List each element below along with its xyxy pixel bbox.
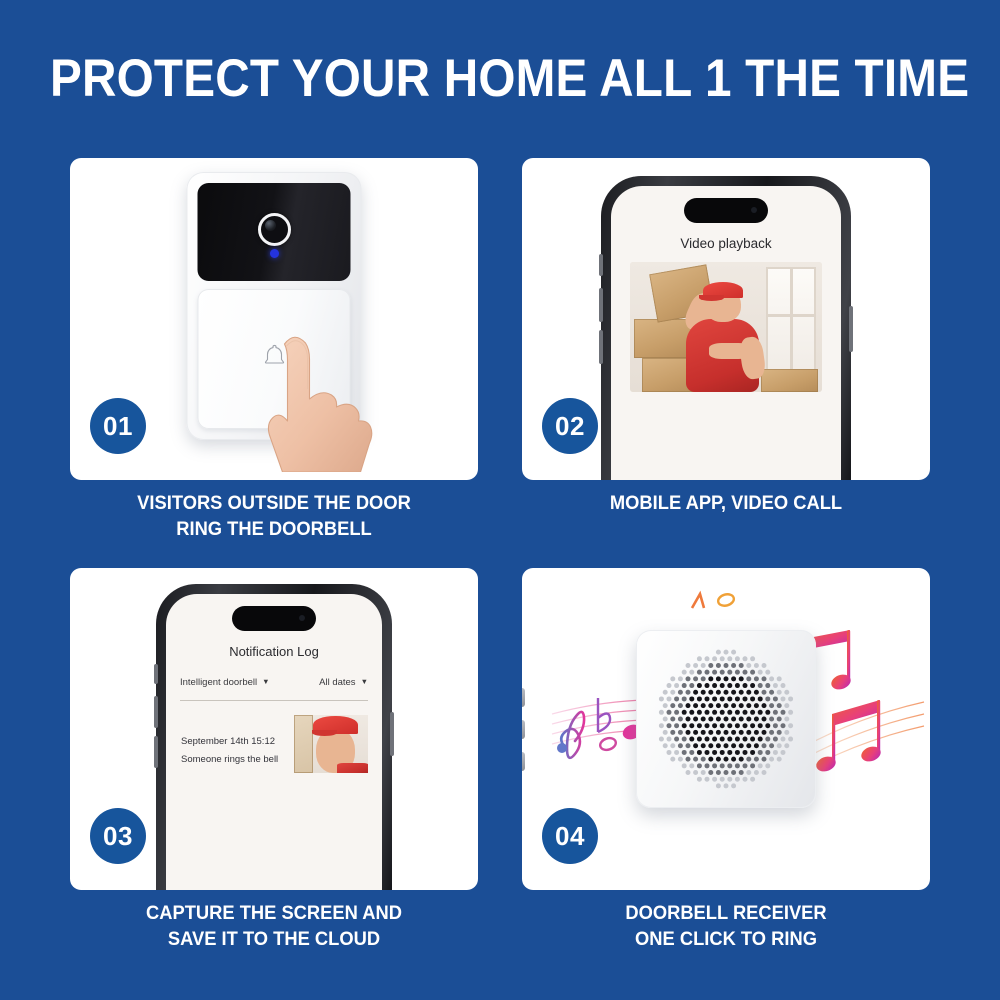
date-filter-label: All dates (319, 677, 355, 688)
notification-message: Someone rings the bell (181, 754, 278, 765)
video-playback-label: Video playback (611, 236, 841, 251)
phone-mute-switch[interactable] (154, 664, 158, 684)
phone-screen-02: Video playback (611, 186, 841, 480)
panel-caption-03: CAPTURE THE SCREEN AND SAVE IT TO THE CL… (82, 900, 466, 952)
smartphone-mockup-03: Notification Log Intelligent doorbell ▼ … (156, 584, 392, 890)
notification-filter-bar: Intelligent doorbell ▼ All dates ▼ (180, 674, 368, 690)
phone-mute-switch[interactable] (599, 254, 603, 276)
step-badge-01: 01 (90, 398, 146, 454)
chevron-down-icon: ▼ (262, 678, 269, 686)
photo-door-edge (294, 715, 313, 773)
panel-caption-04: DOORBELL RECEIVER ONE CLICK TO RING (534, 900, 918, 952)
feature-grid: 01 VISITORS OUTSIDE THE DOOR RING THE DO… (70, 158, 930, 958)
notification-log-title: Notification Log (166, 644, 382, 659)
feature-panel-01: 01 VISITORS OUTSIDE THE DOOR RING THE DO… (70, 158, 478, 548)
step-badge-02: 02 (542, 398, 598, 454)
photo-window (766, 267, 816, 374)
panel-card-02: Video playback (522, 158, 930, 480)
panel-card-03: Notification Log Intelligent doorbell ▼ … (70, 568, 478, 890)
photo-box (634, 319, 692, 358)
speaker-grille-icon (654, 647, 798, 791)
receiver-body (636, 630, 816, 808)
phone-volume-up-button[interactable] (599, 288, 603, 322)
device-filter-label: Intelligent doorbell (180, 677, 257, 688)
camera-lens-icon (258, 213, 291, 246)
dynamic-island-notch (684, 198, 768, 223)
dynamic-island-notch (232, 606, 316, 631)
phone-power-button[interactable] (849, 306, 853, 352)
photo-cap-brim (699, 295, 724, 302)
delivery-man-photo (630, 262, 822, 392)
receiver-button-bottom[interactable] (522, 752, 525, 771)
phone-screen-03: Notification Log Intelligent doorbell ▼ … (166, 594, 382, 890)
feature-panel-02: Video playback (522, 158, 930, 548)
photo-box (761, 369, 819, 392)
step-badge-03: 03 (90, 808, 146, 864)
smartphone-mockup-02: Video playback (601, 176, 851, 480)
visitor-face-photo (294, 715, 368, 773)
phone-volume-down-button[interactable] (599, 330, 603, 364)
panel-card-04: 04 (522, 568, 930, 890)
page-title: PROTECT YOUR HOME ALL 1 THE TIME (50, 48, 950, 110)
notification-timestamp: September 14th 15:12 (181, 736, 275, 747)
doorbell-illustration (187, 172, 362, 472)
panel-caption-02: MOBILE APP, VIDEO CALL (534, 490, 918, 516)
feature-panel-03: Notification Log Intelligent doorbell ▼ … (70, 568, 478, 958)
panel-caption-01: VISITORS OUTSIDE THE DOOR RING THE DOORB… (82, 490, 466, 542)
step-badge-04: 04 (542, 808, 598, 864)
date-filter-dropdown[interactable]: All dates ▼ (319, 677, 368, 688)
chevron-down-icon: ▼ (361, 678, 368, 686)
video-playback-frame[interactable] (630, 262, 822, 392)
receiver-button-top[interactable] (522, 688, 525, 707)
phone-power-button[interactable] (390, 712, 394, 756)
status-led-indicator (270, 249, 279, 258)
phone-volume-down-button[interactable] (154, 736, 158, 768)
feature-panel-04: 04 DOORBELL RECEIVER ONE CLICK TO RING (522, 568, 930, 958)
photo-shoulder (337, 763, 368, 773)
notification-thumbnail[interactable] (294, 715, 368, 773)
receiver-button-middle[interactable] (522, 720, 525, 739)
device-filter-dropdown[interactable]: Intelligent doorbell ▼ (180, 677, 270, 688)
doorbell-camera-module (198, 183, 351, 281)
pointing-hand (251, 322, 401, 472)
infographic-page: PROTECT YOUR HOME ALL 1 THE TIME (0, 0, 1000, 1000)
divider (180, 700, 368, 701)
phone-volume-up-button[interactable] (154, 696, 158, 728)
panel-card-01: 01 (70, 158, 478, 480)
